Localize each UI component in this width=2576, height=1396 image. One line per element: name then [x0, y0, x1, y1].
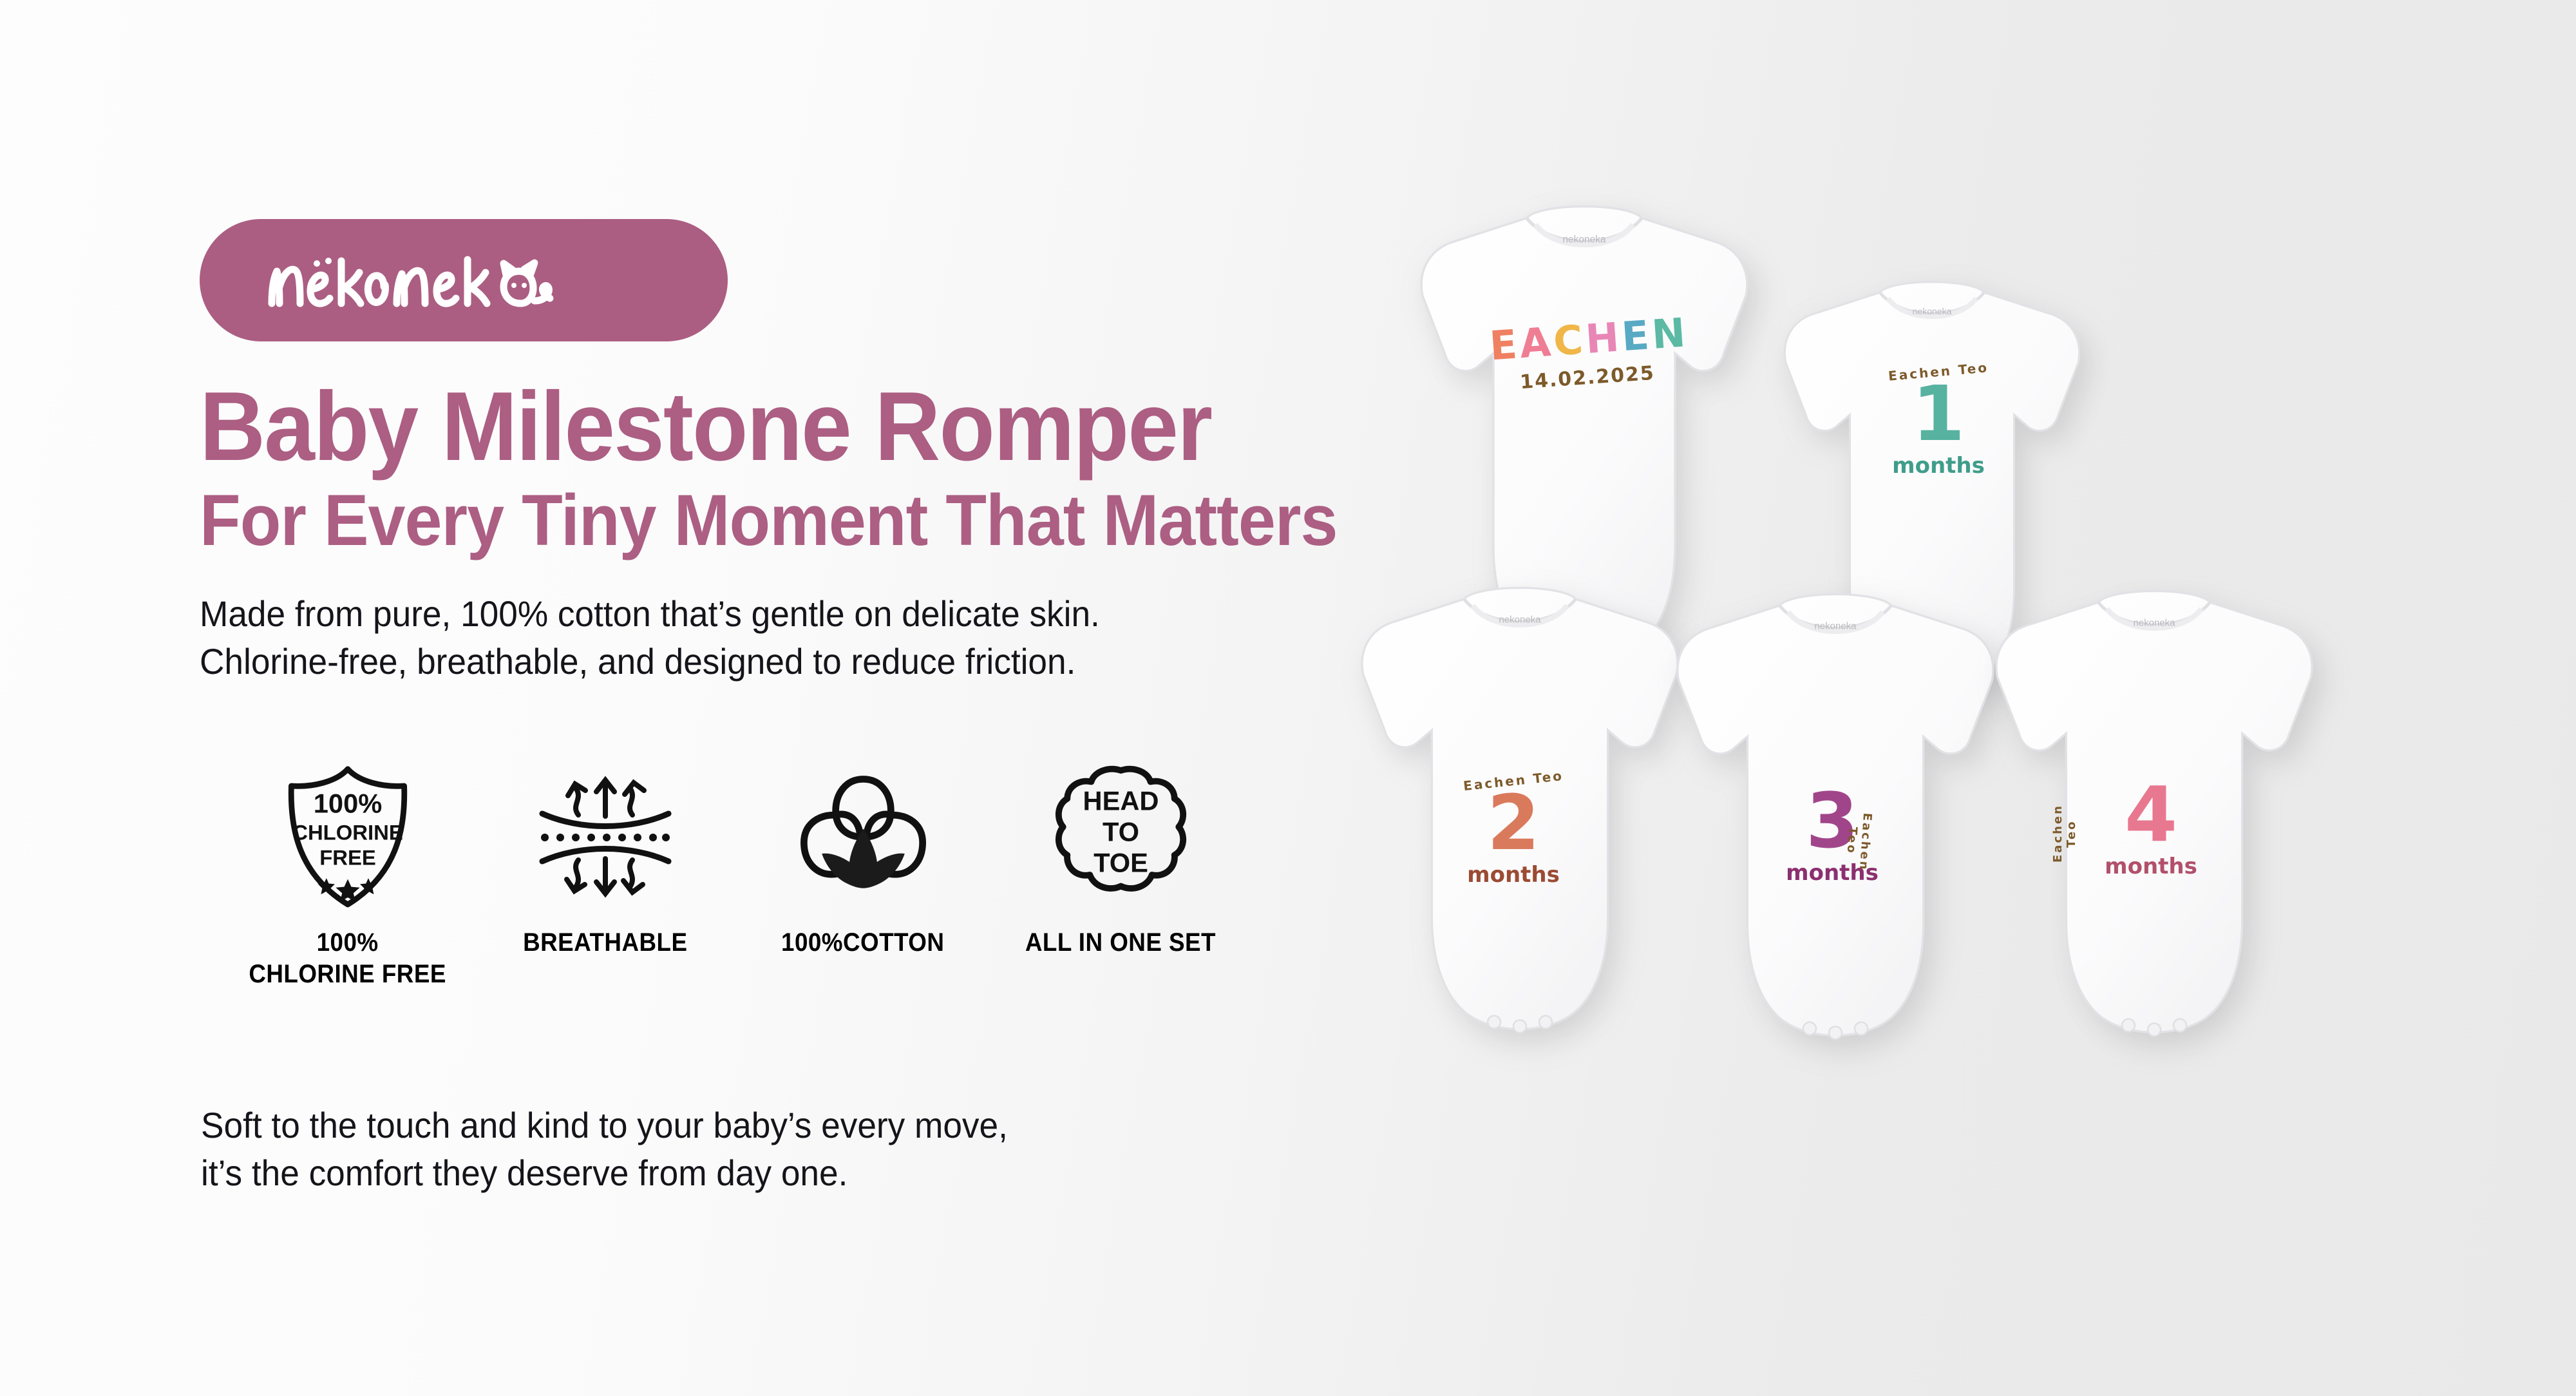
milestone-number: 1 [1848, 376, 2029, 452]
badge-text-line3: TOE [1094, 848, 1148, 878]
feature-caption-breathable: BREATHABLE [523, 927, 687, 959]
feature-breathable: BREATHABLE [477, 757, 734, 959]
product-photo-group: nekoneka E A C H E N 14.02.2025 nekoneka [1365, 142, 2576, 1314]
outro-paragraph: Soft to the touch and kind to your baby’… [201, 1102, 1008, 1198]
milestone-print-1: Eachen Teo 1 months [1848, 364, 2029, 479]
intro-paragraph: Made from pure, 100% cotton that’s gentl… [200, 590, 1301, 686]
shield-chlorine-free-icon: 100% CHLORINE FREE [274, 757, 422, 918]
feature-chlorine-free: 100% CHLORINE FREE 100% CHLORINE FREE [219, 757, 477, 990]
brand-logo-badge [200, 219, 728, 341]
caption-line-1: 100% [317, 928, 379, 957]
feature-cotton: 100%COTTON [734, 757, 992, 959]
milestone-print-3: 3 months Eachen Teo [1739, 783, 1926, 886]
milestone-number: 4 [2058, 776, 2244, 852]
caption-line-2: CHLORINE FREE [249, 959, 447, 990]
shield-text-line2: CHLORINE [292, 820, 403, 844]
badge-text-line2: TO [1102, 816, 1139, 846]
page-title: Baby Milestone Romper [200, 378, 1278, 475]
milestone-number: 3 [1739, 783, 1926, 859]
breathable-airflow-icon [528, 757, 683, 918]
caption-line-1: BREATHABLE [523, 928, 687, 957]
neck-tag-label: nekoneka [1913, 306, 1952, 316]
name-letter-0: E [1488, 321, 1519, 370]
dotted-fabric-line-icon [541, 834, 670, 841]
shield-stars-icon [318, 878, 377, 902]
neck-tag-label: nekoneka [1562, 234, 1605, 245]
feature-icon-row: 100% CHLORINE FREE 100% CHLORINE FREE [219, 757, 1249, 990]
outro-line-2: it’s the comfort they deserve from day o… [201, 1149, 1008, 1197]
page-subtitle: For Every Tiny Moment That Matters [200, 484, 1278, 557]
name-letter-3: H [1584, 314, 1621, 363]
months-label: months [1420, 862, 1607, 888]
feature-caption-chlorine-free: 100% CHLORINE FREE [249, 927, 447, 990]
head-to-toe-badge-icon: HEAD TO TOE [1048, 757, 1193, 918]
brand-wordmark [258, 242, 670, 319]
months-label: months [1739, 860, 1926, 886]
milestone-print-2: Eachen Teo 2 months [1420, 773, 1607, 888]
intro-line-1: Made from pure, 100% cotton that’s gentl… [200, 590, 1301, 638]
feature-all-in-one: HEAD TO TOE ALL IN ONE SET [992, 757, 1249, 959]
name-letter-1: A [1518, 318, 1552, 367]
milestone-print-4: 4 months Eachen Teo [2058, 776, 2244, 879]
months-label: months [1848, 453, 2029, 479]
shield-text-line3: FREE [319, 846, 376, 870]
arc-name-label: Eachen Teo [2051, 788, 2078, 879]
name-letter-2: C [1552, 316, 1584, 365]
months-label: months [2058, 854, 2244, 879]
name-letter-5: N [1650, 309, 1687, 358]
intro-line-2: Chlorine-free, breathable, and designed … [200, 638, 1301, 685]
name-print-graphic: E A C H E N 14.02.2025 [1452, 316, 1723, 389]
milestone-number: 2 [1420, 785, 1607, 861]
feature-caption-cotton: 100%COTTON [781, 927, 944, 959]
outro-line-1: Soft to the touch and kind to your baby’… [201, 1102, 1008, 1149]
neck-tag-label: nekoneka [2133, 618, 2175, 629]
hero-text-column: Baby Milestone Romper For Every Tiny Mom… [200, 219, 1359, 686]
cotton-leaf-icon [822, 828, 905, 888]
caption-line-1: 100%COTTON [781, 928, 944, 957]
feature-caption-all-in-one: ALL IN ONE SET [1025, 927, 1216, 959]
cotton-boll-icon [794, 757, 933, 918]
shield-text-line1: 100% [314, 789, 382, 819]
name-letter-4: E [1620, 311, 1651, 360]
caption-line-1: ALL IN ONE SET [1025, 928, 1216, 957]
badge-text-line1: HEAD [1083, 785, 1159, 816]
romper-4-months: nekoneka 4 months Eachen Teo [1961, 564, 2347, 1105]
neck-tag-label: nekoneka [1814, 621, 1857, 632]
neck-tag-label: nekoneka [1499, 615, 1541, 626]
